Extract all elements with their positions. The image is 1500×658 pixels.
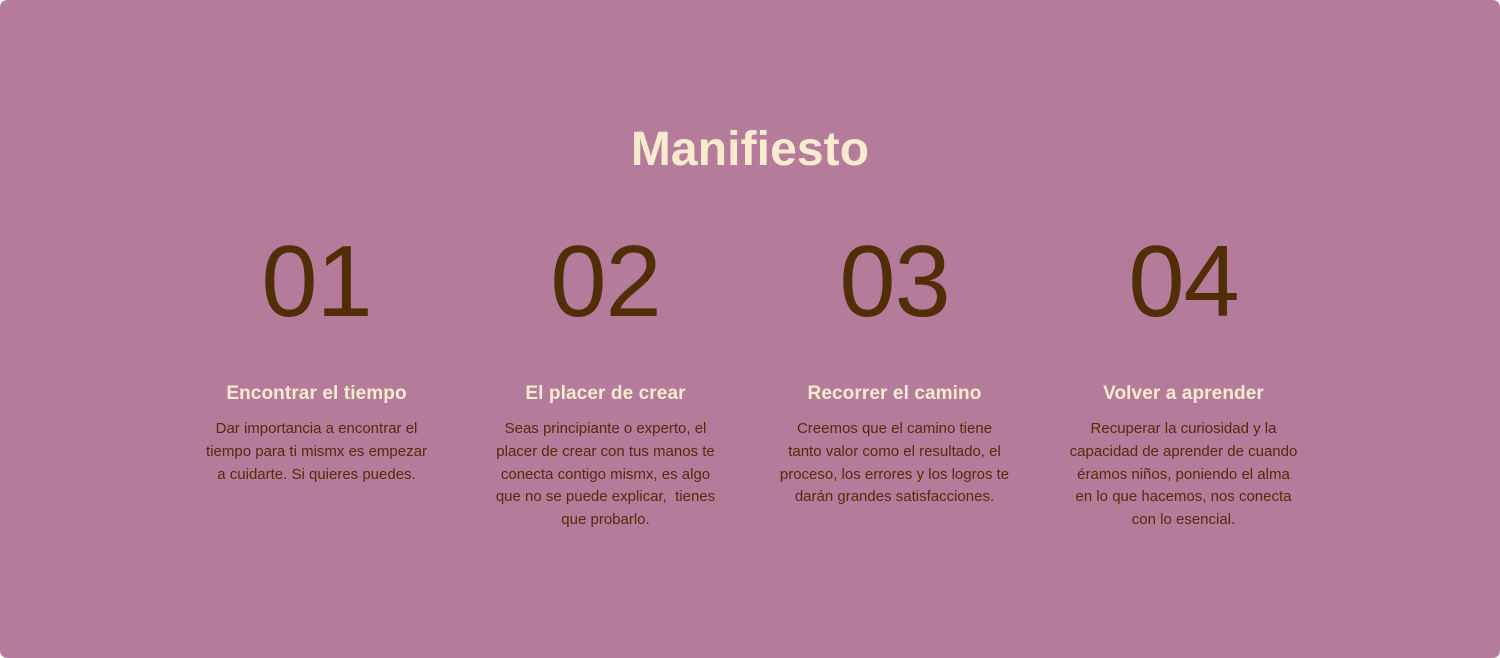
item-number: 03 — [839, 232, 949, 336]
item-body: Creemos que el camino tiene tanto valor … — [779, 418, 1011, 509]
item-body: Recuperar la curiosidad y la capacidad d… — [1068, 418, 1300, 532]
item-body: Seas principiante o experto, el placer d… — [490, 418, 722, 532]
manifesto-item-04: 04 Volver a aprender Recuperar la curios… — [1039, 232, 1328, 532]
manifesto-item-02: 02 El placer de crear Seas principiante … — [461, 232, 750, 532]
item-heading: El placer de crear — [525, 381, 685, 407]
screenshot-root: Manifiesto 01 Encontrar el tiempo Dar im… — [0, 0, 1500, 658]
manifesto-grid: 01 Encontrar el tiempo Dar importancia a… — [172, 232, 1328, 532]
manifesto-item-01: 01 Encontrar el tiempo Dar importancia a… — [172, 232, 461, 486]
item-heading: Encontrar el tiempo — [226, 381, 406, 407]
item-number: 02 — [550, 232, 660, 336]
manifesto-section: Manifiesto 01 Encontrar el tiempo Dar im… — [0, 0, 1500, 658]
item-number: 01 — [261, 232, 371, 336]
item-number: 04 — [1128, 232, 1238, 336]
item-body: Dar importancia a encontrar el tiempo pa… — [201, 418, 433, 486]
item-heading: Recorrer el camino — [808, 381, 982, 407]
item-heading: Volver a aprender — [1103, 381, 1264, 407]
manifesto-item-03: 03 Recorrer el camino Creemos que el cam… — [750, 232, 1039, 509]
page-title: Manifiesto — [0, 117, 1500, 183]
